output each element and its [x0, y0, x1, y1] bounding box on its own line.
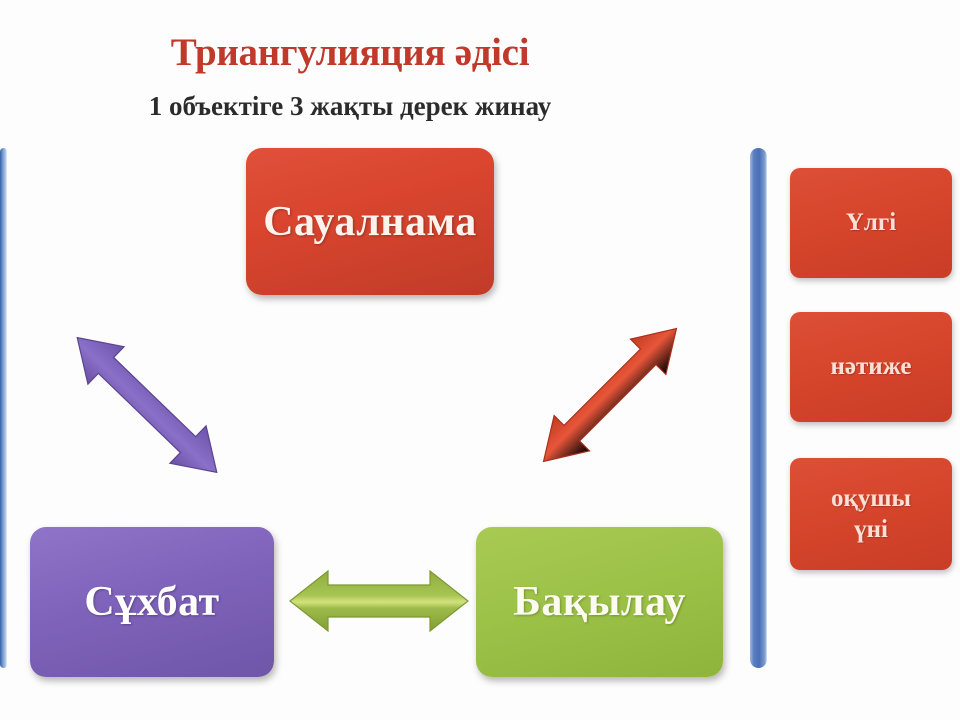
page-title: Триангулияция әдісі — [0, 33, 700, 74]
node-interview[interactable]: Сұхбат — [30, 527, 274, 677]
page-subtitle: 1 объектіге 3 жақты дерек жинау — [0, 92, 700, 122]
node-survey-label: Сауалнама — [263, 198, 477, 246]
tag-okushy-uni-label: оқушы үні — [831, 483, 911, 546]
tag-ulgi-label: Үлгі — [846, 207, 896, 238]
tag-ulgi[interactable]: Үлгі — [790, 168, 952, 278]
tag-okushy-uni[interactable]: оқушы үні — [790, 458, 952, 570]
node-observe[interactable]: Бақылау — [476, 527, 723, 677]
node-interview-label: Сұхбат — [84, 578, 219, 626]
tag-okushy-uni-line2: үні — [854, 516, 888, 543]
left-accent-bar — [0, 148, 7, 668]
node-survey[interactable]: Сауалнама — [246, 148, 494, 295]
double-arrow-red-icon — [530, 295, 690, 495]
slide-canvas: Триангулияция әдісі 1 объектіге 3 жақты … — [0, 0, 960, 720]
right-accent-bar — [750, 148, 767, 668]
tag-okushy-uni-line1: оқушы — [831, 485, 911, 512]
node-observe-label: Бақылау — [513, 578, 686, 626]
tag-natije[interactable]: нәтиже — [790, 312, 952, 422]
double-arrow-green-icon — [286, 565, 472, 637]
tag-natije-label: нәтиже — [830, 351, 911, 382]
double-arrow-purple-icon — [62, 300, 232, 510]
